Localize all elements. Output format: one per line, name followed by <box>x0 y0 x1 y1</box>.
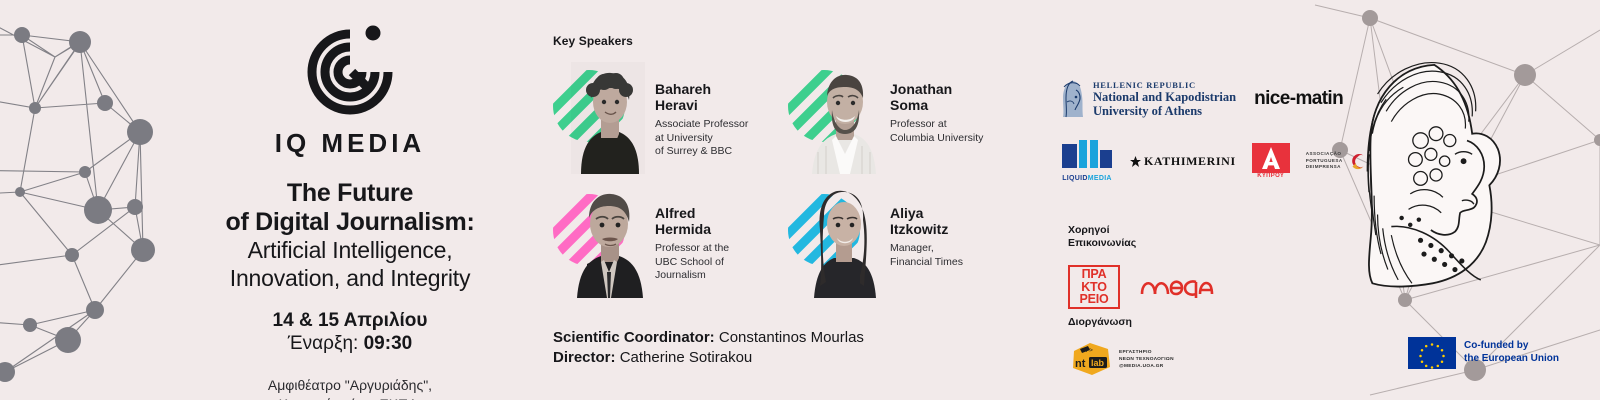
speaker-photo-wrap <box>788 186 880 298</box>
api-line-2: PORTUGUESA <box>1306 158 1343 165</box>
media-sponsors-label-line1: Χορηγοί <box>1068 224 1216 237</box>
speaker-photo-wrap <box>788 62 880 174</box>
speaker-portrait <box>806 62 880 174</box>
brand-wordmark: IQ MEDIA <box>150 128 550 159</box>
speaker-portrait <box>571 186 645 298</box>
api-line-3: DEIMPRENSA <box>1306 164 1343 171</box>
speaker-name: Jonathan Soma <box>890 82 983 113</box>
event-venue: Αμφιθέατρο "Αργυριάδης", Κεντρικό κτήριο… <box>150 376 550 400</box>
speaker-role: Associate Professor at University of Sur… <box>655 118 748 158</box>
uoa-line-1: HELLENIC REPUBLIC <box>1093 80 1236 90</box>
praktoreio-line-3: ΡΕΙΟ <box>1079 293 1108 306</box>
director-name: Catherine Sotirakou <box>620 349 753 366</box>
nt-lab-text-block: ΕΡΓΑΣΤΗΡΙΟ ΝΕΩΝ ΤΕΧΝΟΛΟΓΙΩΝ @MEDIA.UOA.G… <box>1119 349 1174 371</box>
svg-text:</>: </> <box>1082 347 1093 354</box>
logo-kathimerini: KATHIMERINI <box>1130 154 1236 169</box>
key-speakers-heading: Key Speakers <box>553 34 1023 48</box>
praktoreio-line-1: ΠΡΑ <box>1082 268 1107 281</box>
iq-media-logo-icon <box>302 24 398 120</box>
venue-line-1: Αμφιθέατρο "Αργυριάδης", <box>150 376 550 395</box>
subtitle-line-1: Artificial Intelligence, <box>150 237 550 265</box>
liquid-word-a: LIQUID <box>1062 175 1088 182</box>
nt-lab-line-2: ΝΕΩΝ ΤΕΧΝΟΛΟΓΙΩΝ <box>1119 356 1174 363</box>
nt-lab-cube-icon: </> nt lab <box>1068 341 1114 377</box>
api-swirl-icon <box>1347 150 1369 172</box>
alpha-caption: ΚΥΠΡΟΥ <box>1252 173 1290 179</box>
subtitle-line-2: Innovation, and Integrity <box>150 265 550 293</box>
api-text-block: ASSOCIAÇÃO PORTUGUESA DEIMPRENSA <box>1306 151 1343 171</box>
speaker-text: Bahareh Heravi Associate Professor at Un… <box>645 62 748 159</box>
logo-praktoreio: ΠΡΑ ΚΤΟ ΡΕΙΟ <box>1068 265 1120 309</box>
event-identity-column: IQ MEDIA The Future of Digital Journalis… <box>150 16 550 396</box>
eu-cofunding-badge: Co-funded by the European Union <box>1408 337 1559 369</box>
logo-nice-matin: nice-matin <box>1254 88 1343 110</box>
speaker-role: Professor at Columbia University <box>890 118 983 145</box>
speaker-portrait <box>806 186 880 298</box>
key-speakers-section: Key Speakers <box>553 34 1023 310</box>
speakers-grid: Bahareh Heravi Associate Professor at Un… <box>553 62 1023 310</box>
event-banner: IQ MEDIA The Future of Digital Journalis… <box>0 0 1600 400</box>
speaker-portrait <box>571 62 645 174</box>
speaker-card: Alfred Hermida Professor at the UBC Scho… <box>553 186 788 310</box>
speaker-card: Jonathan Soma Professor at Columbia Univ… <box>788 62 1023 186</box>
liquid-word-b: MEDIA <box>1088 175 1112 182</box>
director-label: Director: <box>553 349 616 366</box>
scientific-coordinator-line: Scientific Coordinator: Constantinos Mou… <box>553 328 864 348</box>
title-line-1: The Future <box>150 179 550 208</box>
logo-api-portuguesa: ASSOCIAÇÃO PORTUGUESA DEIMPRENSA <box>1306 150 1369 172</box>
logo-uoa: HELLENIC REPUBLIC National and Kapodistr… <box>1060 78 1236 120</box>
sponsor-row-secondary: LIQUIDMEDIA KATHIMERINI ΚΥΠΡΟΥ <box>1060 140 1390 182</box>
speaker-text: Jonathan Soma Professor at Columbia Univ… <box>880 62 983 145</box>
speaker-card: Aliya Itzkowitz Manager, Financial Times <box>788 186 1023 310</box>
speaker-name: Bahareh Heravi <box>655 82 748 113</box>
media-sponsors-label-line2: Επικοινωνίας <box>1068 237 1216 250</box>
logo-alpha-kyprou: ΚΥΠΡΟΥ <box>1252 143 1290 179</box>
liquid-media-wordmark: LIQUIDMEDIA <box>1060 175 1114 182</box>
page-title: The Future of Digital Journalism: <box>150 179 550 237</box>
media-sponsors-section: Χορηγοί Επικοινωνίας ΠΡΑ ΚΤΟ ΡΕΙΟ <box>1068 224 1216 309</box>
uoa-line-3: University of Athens <box>1093 104 1236 118</box>
venue-line-2: Κεντρικό κτήριο ΕΚΠΑ, <box>150 395 550 400</box>
media-sponsor-logos: ΠΡΑ ΚΤΟ ΡΕΙΟ <box>1068 265 1216 309</box>
speaker-role: Professor at the UBC School of Journalis… <box>655 242 729 282</box>
kathimerini-crest-icon <box>1130 156 1141 167</box>
nt-lab-line-1: ΕΡΓΑΣΤΗΡΙΟ <box>1119 349 1174 356</box>
logo-liquid-media: LIQUIDMEDIA <box>1060 140 1114 182</box>
scientific-coordinator-name: Constantinos Mourlas <box>719 329 864 346</box>
svg-text:nt: nt <box>1075 358 1086 370</box>
uoa-line-2: National and Kapodistrian <box>1093 90 1236 104</box>
sponsor-logos-section: HELLENIC REPUBLIC National and Kapodistr… <box>1060 78 1390 182</box>
uoa-text-block: HELLENIC REPUBLIC National and Kapodistr… <box>1093 80 1236 118</box>
media-sponsors-label: Χορηγοί Επικοινωνίας <box>1068 224 1216 251</box>
api-line-1: ASSOCIAÇÃO <box>1306 151 1343 158</box>
event-time: Έναρξη: 09:30 <box>150 332 550 356</box>
sponsor-row-primary: HELLENIC REPUBLIC National and Kapodistr… <box>1060 78 1390 120</box>
logo-mega <box>1138 275 1216 299</box>
event-date: 14 & 15 Απριλίου <box>150 310 550 332</box>
alpha-mark <box>1252 143 1290 173</box>
scientific-coordinator-label: Scientific Coordinator: <box>553 329 715 346</box>
speaker-name: Alfred Hermida <box>655 206 729 237</box>
organiser-label: Διοργάνωση <box>1068 316 1174 329</box>
eu-cofunding-text: Co-funded by the European Union <box>1464 340 1559 366</box>
title-line-2: of Digital Journalism: <box>150 208 550 237</box>
organiser-section: Διοργάνωση </> nt lab ΕΡΓΑΣΤΗΡΙΟ ΝΕΩΝ ΤΕ… <box>1068 316 1174 377</box>
event-time-value: 09:30 <box>364 333 413 354</box>
speaker-card: Bahareh Heravi Associate Professor at Un… <box>553 62 788 186</box>
speaker-photo-wrap <box>553 186 645 298</box>
director-line: Director: Catherine Sotirakou <box>553 348 864 368</box>
speaker-text: Aliya Itzkowitz Manager, Financial Times <box>880 186 963 269</box>
liquid-media-bars-icon <box>1060 140 1114 168</box>
nt-lab-line-3: @MEDIA.UOA.GR <box>1119 363 1174 370</box>
kathimerini-wordmark: KATHIMERINI <box>1144 154 1236 169</box>
speaker-text: Alfred Hermida Professor at the UBC Scho… <box>645 186 729 283</box>
eu-flag-icon <box>1408 337 1456 369</box>
event-time-label: Έναρξη: <box>288 333 359 354</box>
logo-nt-lab: </> nt lab ΕΡΓΑΣΤΗΡΙΟ ΝΕΩΝ ΤΕΧΝΟΛΟΓΙΩΝ @… <box>1068 341 1174 377</box>
athena-emblem-icon <box>1060 78 1086 120</box>
event-credits: Scientific Coordinator: Constantinos Mou… <box>553 328 864 369</box>
page-subtitle: Artificial Intelligence, Innovation, and… <box>150 237 550 292</box>
speaker-name: Aliya Itzkowitz <box>890 206 963 237</box>
speaker-photo-wrap <box>553 62 645 174</box>
svg-text:lab: lab <box>1091 358 1105 368</box>
speaker-role: Manager, Financial Times <box>890 242 963 269</box>
